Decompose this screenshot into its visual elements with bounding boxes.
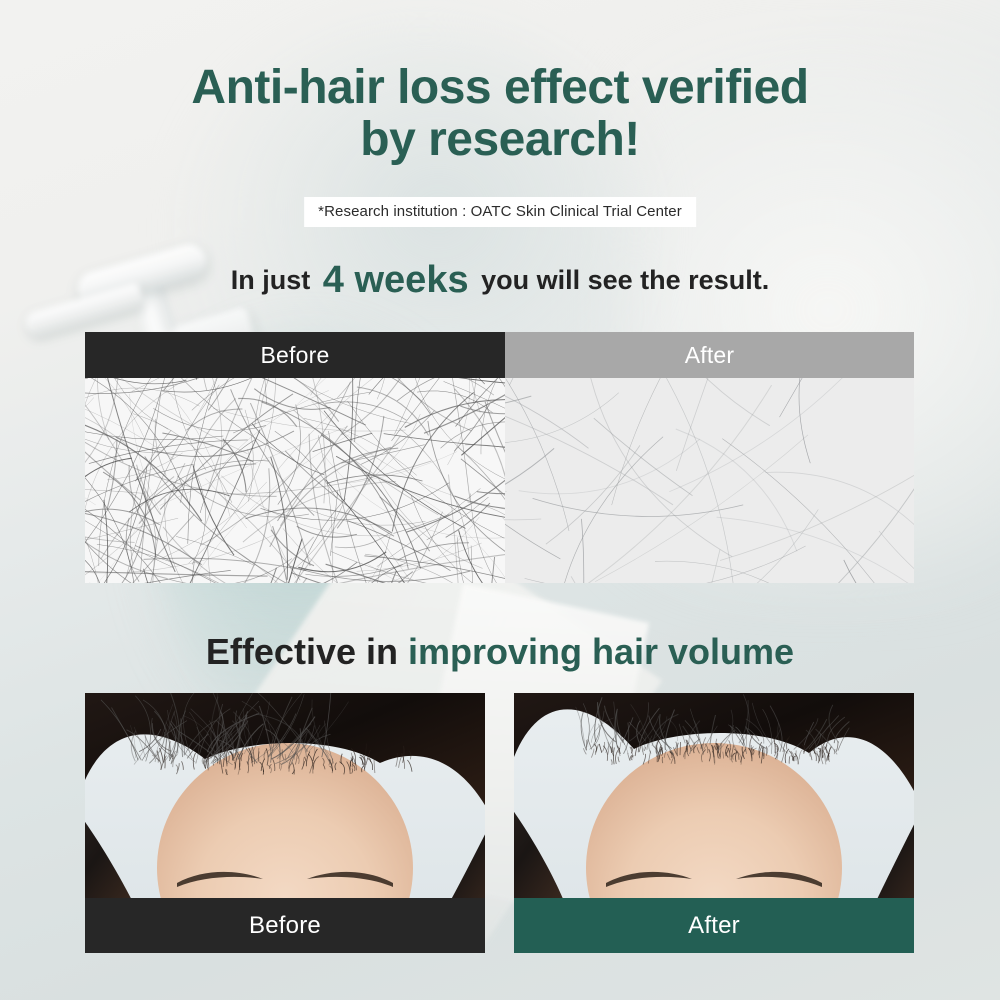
promo-infographic: BOOSTER Anti-hair loss effect verified b… bbox=[0, 0, 1000, 1000]
shed-hair-before-label: Before bbox=[85, 332, 505, 378]
page-title-line1: Anti-hair loss effect verified bbox=[191, 61, 808, 114]
shed-hair-comparison: Before After bbox=[85, 332, 914, 583]
shed-hair-after-label: After bbox=[505, 332, 914, 378]
subline-suffix: you will see the result. bbox=[481, 265, 769, 295]
section-title-accent: improving hair volume bbox=[408, 631, 794, 672]
hair-volume-before-label: Before bbox=[85, 898, 485, 953]
shed-hair-images bbox=[85, 378, 914, 583]
shed-hair-labels: Before After bbox=[85, 332, 914, 378]
page-title: Anti-hair loss effect verified by resear… bbox=[0, 62, 1000, 166]
hair-volume-after-column: After bbox=[514, 693, 914, 953]
section-title-volume: Effective in improving hair volume bbox=[0, 631, 1000, 673]
hair-volume-before-column: Before bbox=[85, 693, 485, 953]
hair-volume-comparison: Before After bbox=[85, 693, 914, 953]
shed-hair-before-image bbox=[85, 378, 505, 583]
research-institution-note: *Research institution : OATC Skin Clinic… bbox=[304, 197, 696, 227]
hair-volume-after-photo bbox=[514, 693, 914, 898]
section-title-prefix: Effective in bbox=[206, 631, 408, 672]
subline-prefix: In just bbox=[231, 265, 311, 295]
shed-hair-after-image bbox=[505, 378, 914, 583]
hair-volume-before-photo bbox=[85, 693, 485, 898]
result-timeframe-text: In just 4 weeks you will see the result. bbox=[0, 259, 1000, 302]
hair-volume-after-label: After bbox=[514, 898, 914, 953]
subline-highlight: 4 weeks bbox=[318, 259, 474, 301]
page-title-line2: by research! bbox=[0, 114, 1000, 166]
